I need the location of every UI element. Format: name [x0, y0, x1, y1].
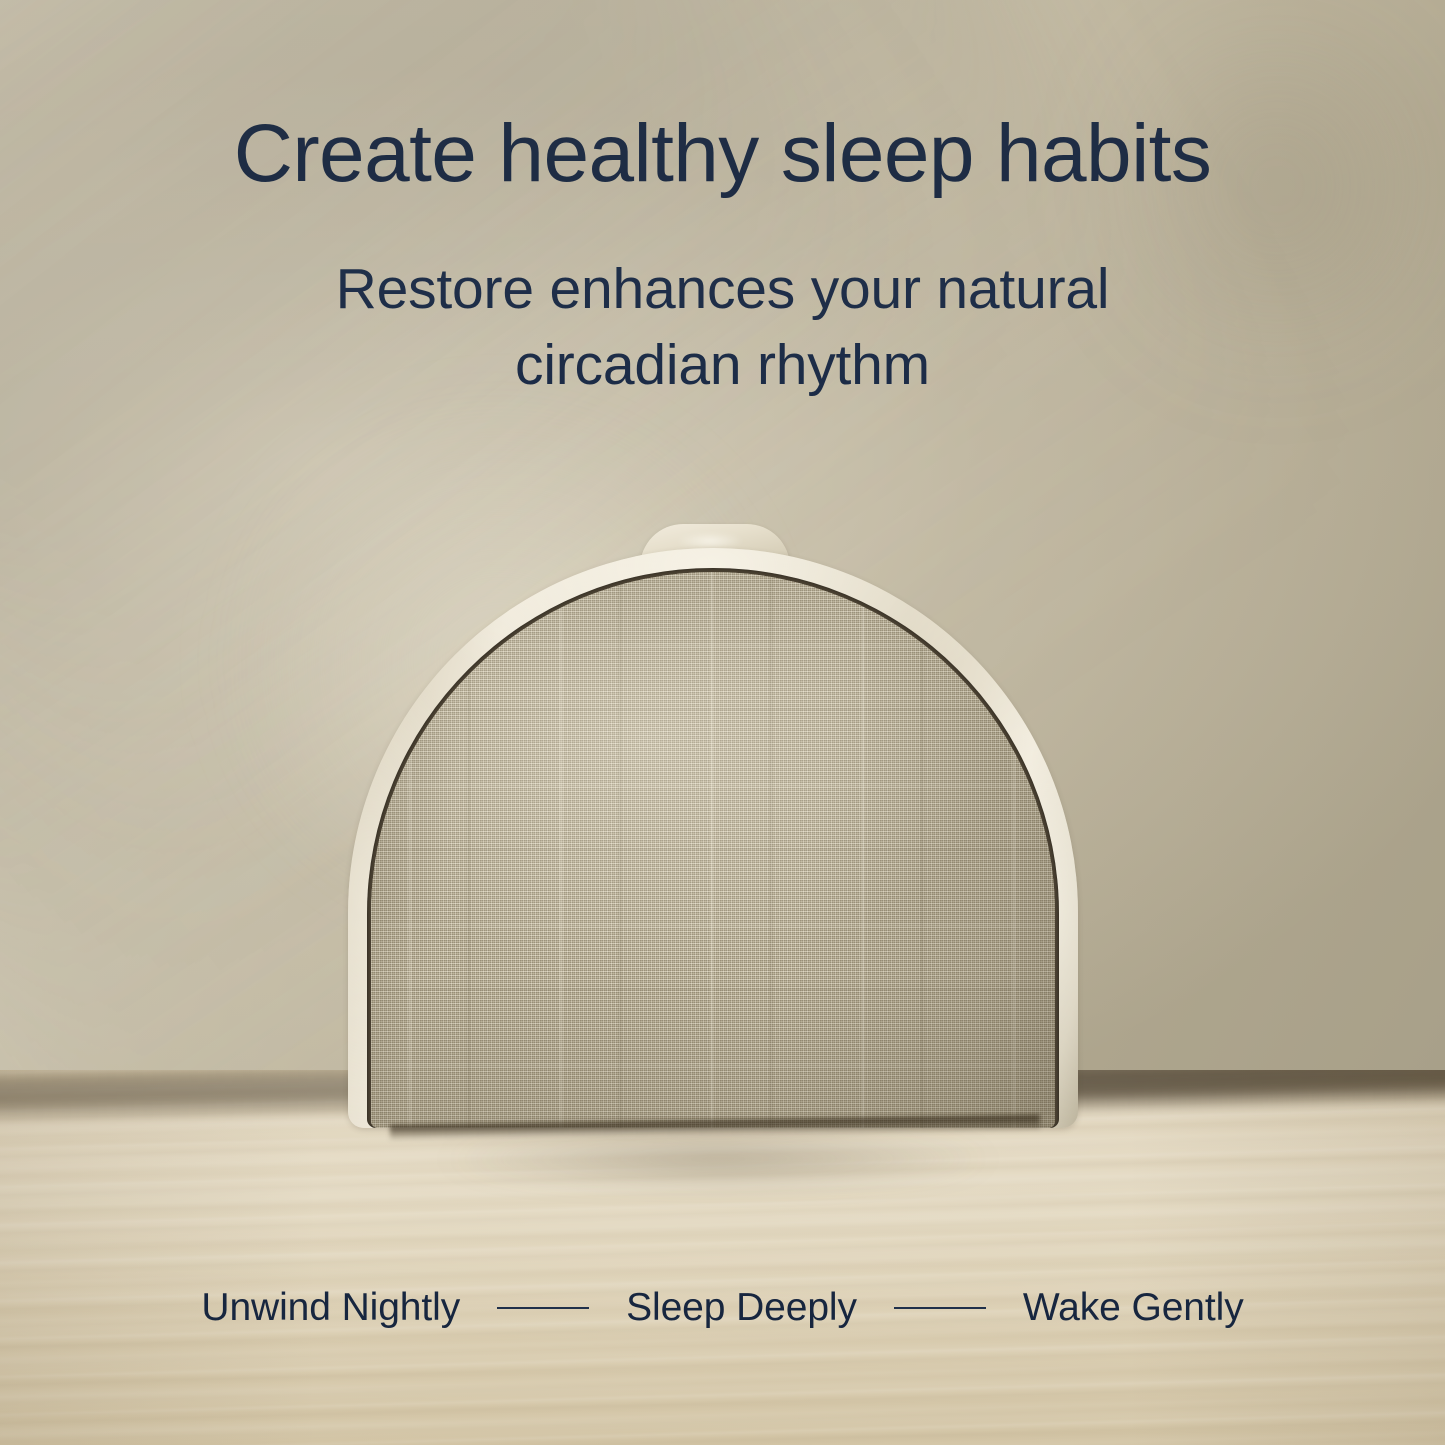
- fabric-shading: [371, 572, 1055, 1128]
- page-title: Create healthy sleep habits: [0, 112, 1445, 196]
- product-image: [348, 548, 1078, 1128]
- benefit-item-unwind: Unwind Nightly: [201, 1286, 460, 1330]
- benefit-item-sleep: Sleep Deeply: [626, 1286, 857, 1330]
- benefit-list: Unwind Nightly Sleep Deeply Wake Gently: [0, 1286, 1445, 1330]
- linen-fabric-panel: [371, 572, 1055, 1128]
- subtitle-line-2: circadian rhythm: [0, 328, 1445, 404]
- subtitle: Restore enhances your natural circadian …: [0, 252, 1445, 404]
- product-marketing-image: Create healthy sleep habits Restore enha…: [0, 0, 1445, 1445]
- benefit-separator-line: [497, 1307, 589, 1309]
- benefit-item-wake: Wake Gently: [1023, 1286, 1244, 1330]
- benefit-separator-line: [894, 1307, 986, 1309]
- subtitle-line-1: Restore enhances your natural: [0, 252, 1445, 328]
